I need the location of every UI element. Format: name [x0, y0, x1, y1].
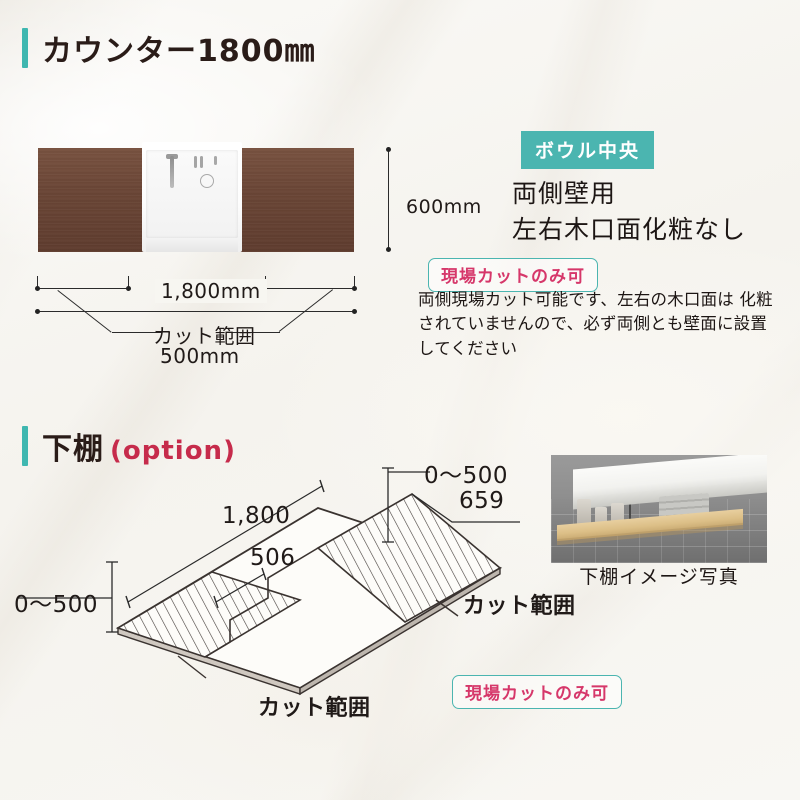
cut-range-line-right	[265, 288, 355, 289]
drain-icon	[200, 174, 214, 188]
shelf-depth-label: 659	[459, 488, 504, 514]
cut-range-dot-left	[35, 286, 40, 291]
counter-product-photo	[38, 148, 354, 252]
counter-height-dimension-line	[388, 150, 389, 250]
counter-height-dot-bottom	[386, 247, 391, 252]
faucet-handle-right-icon	[200, 156, 203, 168]
faucet-handle-left-icon	[194, 156, 197, 168]
counter-width-dot-left	[35, 309, 40, 314]
bowl-position-badge: ボウル中央	[521, 131, 654, 169]
counter-spec-lines: 両側壁用 左右木口面化粧なし	[512, 176, 746, 247]
basin-inner-shadow	[146, 238, 238, 252]
counter-spec-line-2: 左右木口面化粧なし	[512, 212, 746, 248]
shelf-width-tick-right	[320, 480, 324, 492]
counter-height-label: 600mm	[406, 196, 482, 218]
counter-cut-badge: 現場カットのみ可	[428, 258, 598, 292]
basin-rim	[146, 150, 238, 238]
counter-width-label: 1,800mm	[155, 279, 267, 303]
shelf-cut-range-label-left: カット範囲	[258, 690, 371, 722]
shelf-image-photo	[551, 455, 767, 563]
counter-height-dot-top	[386, 147, 391, 152]
shelf-width-tick-left	[126, 596, 130, 608]
shelf-cut-left-label: 0〜500	[14, 585, 98, 619]
counter-note-text: 両側現場カット可能です、左右の木口面は 化粧されていませんので、必ず両側とも壁面…	[418, 288, 774, 361]
faucet-accessory-icon	[214, 156, 217, 165]
counter-wood-right	[238, 148, 354, 252]
counter-section-heading: カウンター1800㎜	[22, 26, 316, 70]
counter-wood-left	[38, 148, 148, 252]
counter-width-dimension-line	[37, 311, 354, 312]
cut-range-dot-right	[352, 286, 357, 291]
faucet-spout-icon	[170, 156, 174, 188]
shelf-cut-badge: 現場カットのみ可	[452, 675, 622, 709]
cut-range-value-label: 500mm	[160, 344, 240, 368]
shelf-inner-width-label: 506	[250, 545, 295, 571]
counter-spec-line-1: 両側壁用	[512, 176, 746, 212]
cut-range-line-left	[37, 288, 129, 289]
counter-heading-text: カウンター1800㎜	[42, 26, 316, 70]
counter-width-dot-right	[352, 309, 357, 314]
photo-candle-large	[577, 499, 591, 525]
accent-bar-icon	[22, 28, 28, 68]
counter-sink-basin	[142, 142, 242, 252]
shelf-cut-right-label: 0〜500	[424, 456, 508, 490]
cut-range-dot-left-inner	[126, 286, 131, 291]
shelf-total-width-label: 1,800	[222, 503, 290, 529]
shelf-photo-caption: 下棚イメージ写真	[551, 562, 767, 589]
shelf-cut-range-label-right: カット範囲	[463, 588, 576, 620]
